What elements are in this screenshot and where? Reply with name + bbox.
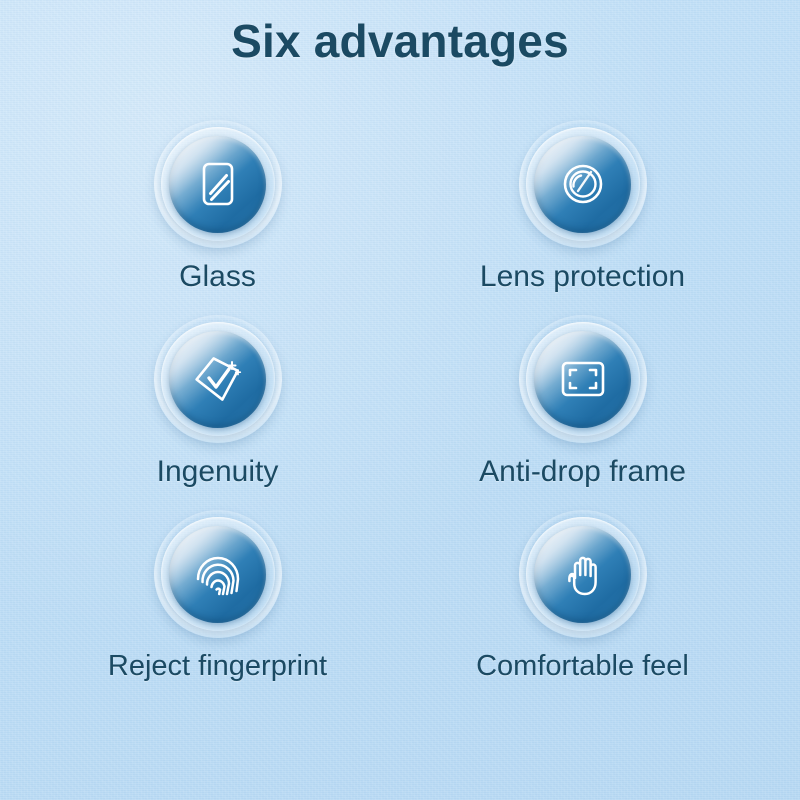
camera-lens-icon xyxy=(554,155,612,213)
corner-frame-icon xyxy=(554,350,612,408)
advantage-item-anti-drop-frame: Anti-drop frame xyxy=(445,313,720,489)
advantage-label: Anti-drop frame xyxy=(479,455,686,489)
advantages-grid: Glass Lens protection xyxy=(0,118,800,702)
advantages-row: Ingenuity Anti xyxy=(0,313,800,489)
badge-disc xyxy=(169,526,266,623)
advantage-label: Lens protection xyxy=(480,260,685,294)
fingerprint-icon xyxy=(189,545,247,603)
advantage-item-reject-fingerprint: Reject fingerprint xyxy=(80,508,355,683)
advantages-row: Glass Lens protection xyxy=(0,118,800,294)
badge-ingenuity xyxy=(152,313,284,445)
badge-lens-protection xyxy=(517,118,649,250)
advantage-label: Ingenuity xyxy=(157,455,279,489)
advantage-label: Reject fingerprint xyxy=(108,650,327,683)
advantages-row: Reject fingerprint Comfortable feel xyxy=(0,508,800,683)
diamond-check-icon xyxy=(189,350,247,408)
advantage-item-glass: Glass xyxy=(80,118,355,294)
badge-disc xyxy=(534,136,631,233)
advantage-label: Comfortable feel xyxy=(476,650,689,683)
badge-glass xyxy=(152,118,284,250)
badge-disc xyxy=(169,136,266,233)
open-hand-icon xyxy=(554,545,612,603)
badge-anti-drop-frame xyxy=(517,313,649,445)
advantage-item-comfortable-feel: Comfortable feel xyxy=(445,508,720,683)
badge-disc xyxy=(169,331,266,428)
badge-reject-fingerprint xyxy=(152,508,284,640)
page-title: Six advantages xyxy=(0,14,800,68)
advantage-label: Glass xyxy=(179,260,256,294)
advantage-item-lens-protection: Lens protection xyxy=(445,118,720,294)
badge-disc xyxy=(534,526,631,623)
phone-glass-icon xyxy=(189,155,247,213)
advantage-item-ingenuity: Ingenuity xyxy=(80,313,355,489)
advantages-poster: Six advantages Glass xyxy=(0,0,800,800)
badge-disc xyxy=(534,331,631,428)
badge-comfortable-feel xyxy=(517,508,649,640)
